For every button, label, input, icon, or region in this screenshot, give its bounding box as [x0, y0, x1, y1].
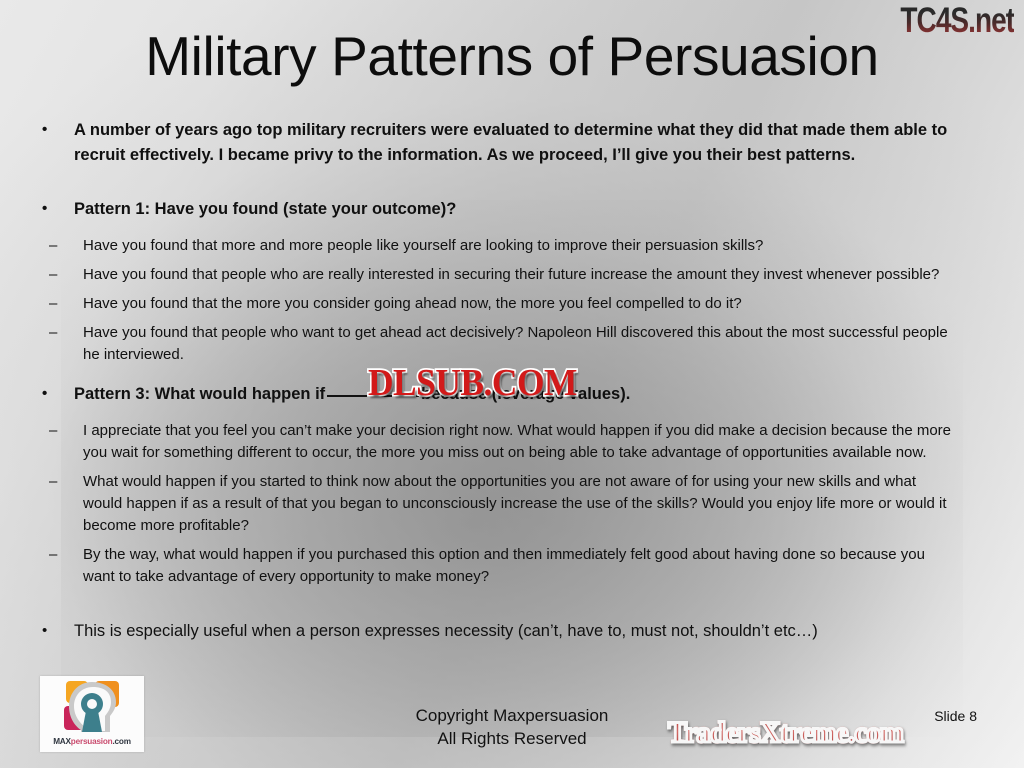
list-item: – I appreciate that you feel you can’t m…	[36, 420, 982, 464]
list-item-text: Have you found that people who want to g…	[83, 322, 982, 366]
list-item-text: Have you found that people who are reall…	[83, 264, 982, 286]
list-item: – Have you found that people who are rea…	[36, 264, 982, 286]
maxpersuasion-logo: MAXpersuasion.com	[40, 676, 144, 752]
list-item-text: Have you found that the more you conside…	[83, 293, 982, 315]
logo-caption-domain: .com	[112, 737, 130, 746]
list-item-text: By the way, what would happen if you pur…	[83, 544, 982, 588]
bullet-marker-icon: •	[36, 118, 74, 141]
list-item-text: I appreciate that you feel you can’t mak…	[83, 420, 982, 464]
watermark-tradersxtreme: TradersXtreme.com	[668, 716, 903, 750]
spacer	[36, 180, 982, 197]
list-item: – Have you found that people who want to…	[36, 322, 982, 366]
pattern3-heading-before: Pattern 3: What would happen if	[74, 385, 325, 403]
dash-marker-icon: –	[36, 235, 83, 257]
pattern1-heading-text: Pattern 1: Have you found (state your ou…	[74, 197, 982, 222]
list-item: – Have you found that the more you consi…	[36, 293, 982, 315]
list-item-text: What would happen if you started to thin…	[83, 471, 982, 537]
logo-caption: MAXpersuasion.com	[40, 737, 144, 746]
list-item: – By the way, what would happen if you p…	[36, 544, 982, 588]
list-item-text: Have you found that more and more people…	[83, 235, 982, 257]
logo-caption-max: MAX	[53, 737, 71, 746]
dash-marker-icon: –	[36, 322, 83, 344]
watermark-tc4s: TC4S.net	[900, 1, 1014, 41]
dash-marker-icon: –	[36, 471, 83, 493]
dash-marker-icon: –	[36, 293, 83, 315]
bullet-marker-icon: •	[36, 382, 74, 405]
dash-marker-icon: –	[36, 544, 83, 566]
bullet-intro: • A number of years ago top military rec…	[36, 118, 982, 167]
dash-marker-icon: –	[36, 264, 83, 286]
page-title: Military Patterns of Persuasion	[0, 28, 1024, 86]
logo-caption-persuasion: persuasion	[71, 737, 113, 746]
bullet-pattern1-heading: • Pattern 1: Have you found (state your …	[36, 197, 982, 222]
watermark-dlsub: DLSUB.COM	[368, 361, 577, 405]
bullet-marker-icon: •	[36, 197, 74, 220]
bullet-intro-text: A number of years ago top military recru…	[74, 118, 982, 167]
list-item: – Have you found that more and more peop…	[36, 235, 982, 257]
bullet-closing-text: This is especially useful when a person …	[74, 619, 982, 644]
dash-marker-icon: –	[36, 420, 83, 442]
list-item: – What would happen if you started to th…	[36, 471, 982, 537]
slide-number: Slide 8	[934, 708, 977, 724]
bullet-closing: • This is especially useful when a perso…	[36, 619, 982, 644]
bullet-marker-icon: •	[36, 619, 74, 642]
logo-mark-icon	[40, 676, 144, 738]
spacer	[36, 595, 982, 619]
slide-canvas: Military Patterns of Persuasion • A numb…	[0, 0, 1024, 768]
